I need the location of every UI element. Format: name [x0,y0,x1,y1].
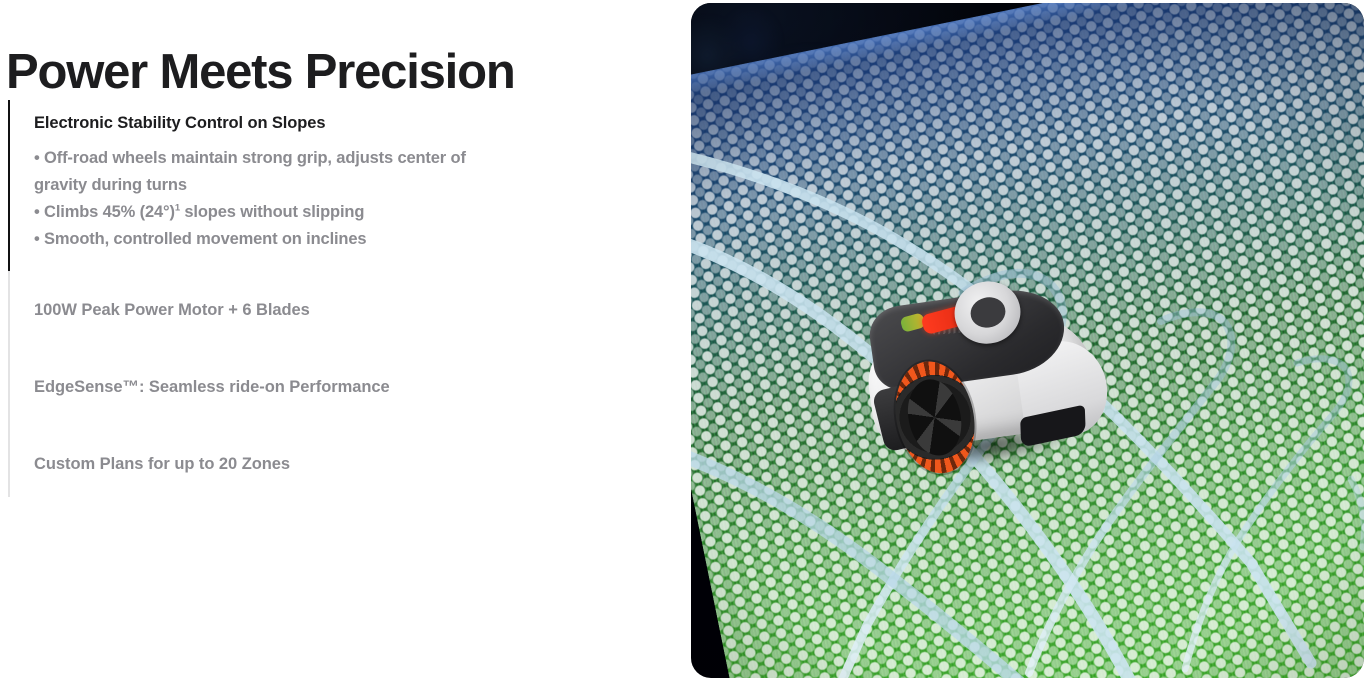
accordion-item-custom-plans[interactable]: Custom Plans for up to 20 Zones [8,425,648,497]
accordion-heading[interactable]: Custom Plans for up to 20 Zones [34,453,648,475]
bullet-line-2-post: slopes without slipping [180,203,364,221]
robotic-lawn-mower [842,273,1121,489]
accordion-item-peak-power-motor[interactable]: 100W Peak Power Motor + 6 Blades [8,271,648,348]
inactive-rail-indicator [8,348,10,425]
feature-section: Power Meets Precision Electronic Stabili… [0,0,1364,678]
feature-accordion: Electronic Stability Control on Slopes •… [8,100,648,497]
accordion-heading[interactable]: EdgeSense™: Seamless ride-on Performance [34,376,648,398]
content-column: Power Meets Precision Electronic Stabili… [0,0,660,678]
accordion-heading[interactable]: 100W Peak Power Motor + 6 Blades [34,299,648,321]
night-lawn-scene [691,3,1364,678]
active-rail-indicator [8,100,10,271]
bullet-line-1-wrap: gravity during turns [34,172,526,199]
bullet-line-3: • Smooth, controlled movement on incline… [34,226,526,253]
bullet-line-2: • Climbs 45% (24°)1 slopes without slipp… [34,199,526,226]
bullet-line-1: • Off-road wheels maintain strong grip, … [34,145,526,172]
accordion-body: • Off-road wheels maintain strong grip, … [34,145,526,253]
bullet-line-2-pre: • Climbs 45% (24°) [34,203,175,221]
accordion-item-electronic-stability-control[interactable]: Electronic Stability Control on Slopes •… [8,100,648,271]
accordion-item-edgesense[interactable]: EdgeSense™: Seamless ride-on Performance [8,348,648,425]
page-title: Power Meets Precision [6,41,515,103]
accordion-heading[interactable]: Electronic Stability Control on Slopes [34,112,648,134]
feature-image [691,3,1364,678]
inactive-rail-indicator [8,425,10,497]
inactive-rail-indicator [8,271,10,348]
